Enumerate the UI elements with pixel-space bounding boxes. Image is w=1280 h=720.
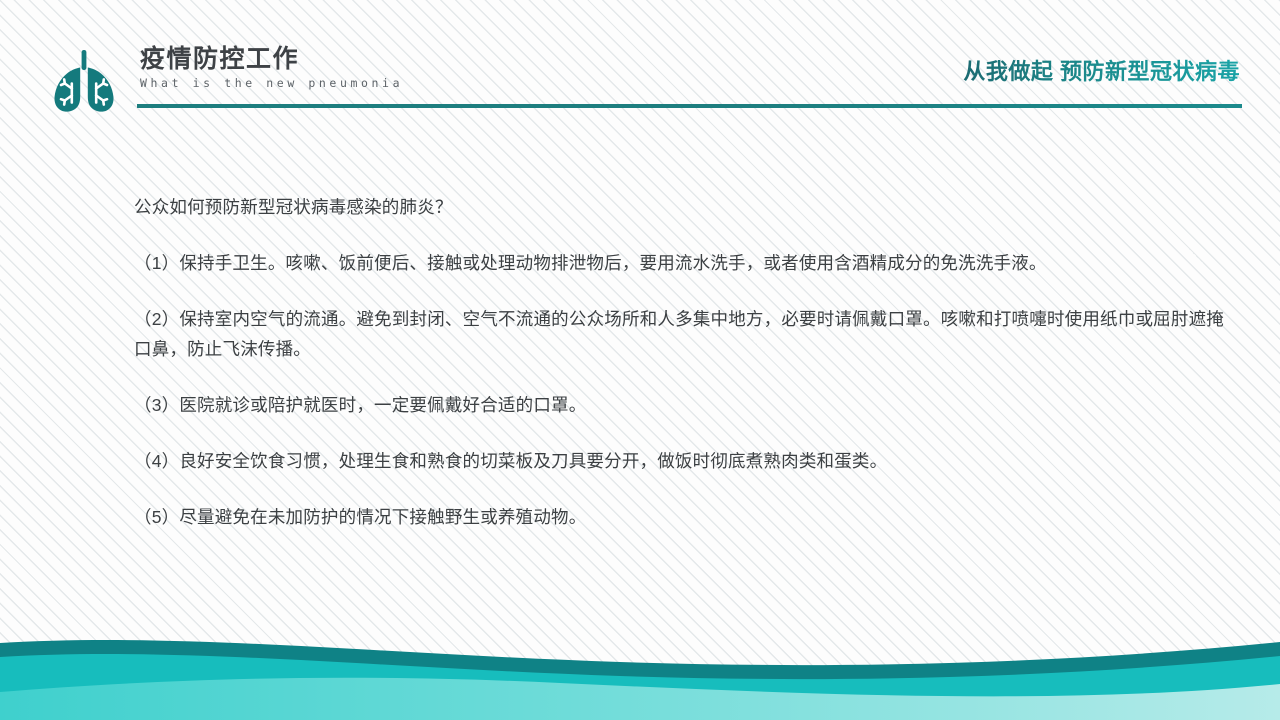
- content-body: 公众如何预防新型冠状病毒感染的肺炎？ （1）保持手卫生。咳嗽、饭前便后、接触或处…: [134, 192, 1224, 532]
- slide-canvas: 疫情防控工作 What is the new pneumonia 从我做起 预防…: [0, 0, 1280, 720]
- content-paragraph-5: （5）尽量避免在未加防护的情况下接触野生或养殖动物。: [134, 502, 1224, 532]
- page-title: 疫情防控工作: [140, 44, 403, 74]
- slide-header: 疫情防控工作 What is the new pneumonia 从我做起 预防…: [0, 0, 1280, 120]
- lungs-icon: [47, 50, 121, 112]
- header-slogan: 从我做起 预防新型冠状病毒: [963, 54, 1240, 86]
- footer-wave-decoration: [0, 610, 1280, 720]
- header-divider: [137, 104, 1242, 108]
- content-paragraph-2: （2）保持室内空气的流通。避免到封闭、空气不流通的公众场所和人多集中地方，必要时…: [134, 304, 1224, 364]
- page-subtitle: What is the new pneumonia: [140, 76, 403, 90]
- content-heading: 公众如何预防新型冠状病毒感染的肺炎？: [134, 192, 1224, 222]
- content-paragraph-3: （3）医院就诊或陪护就医时，一定要佩戴好合适的口罩。: [134, 390, 1224, 420]
- content-paragraph-1: （1）保持手卫生。咳嗽、饭前便后、接触或处理动物排泄物后，要用流水洗手，或者使用…: [134, 248, 1224, 278]
- header-title-block: 疫情防控工作 What is the new pneumonia: [140, 44, 403, 90]
- content-paragraph-4: （4）良好安全饮食习惯，处理生食和熟食的切菜板及刀具要分开，做饭时彻底煮熟肉类和…: [134, 446, 1224, 476]
